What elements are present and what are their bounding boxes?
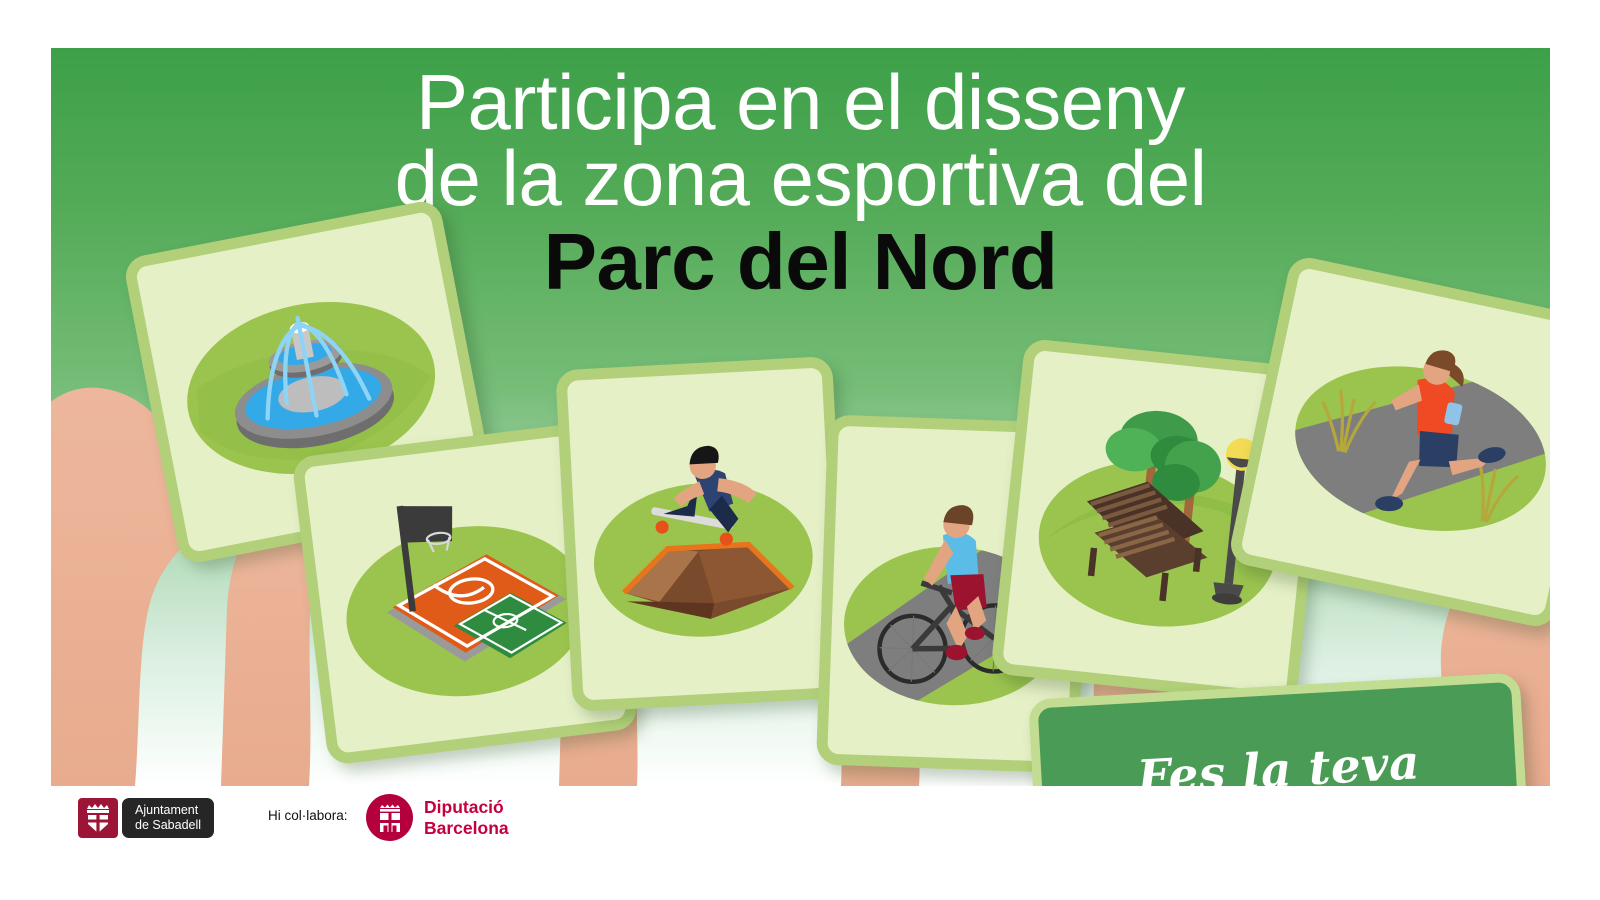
- sabadell-crest-icon: [78, 798, 118, 838]
- sabadell-logo[interactable]: Ajuntament de Sabadell: [78, 798, 214, 838]
- diputacio-crest-icon: [366, 794, 413, 841]
- sabadell-line-1: Ajuntament: [135, 803, 201, 818]
- footer-logos: Ajuntament de Sabadell Hi col·labora: Di…: [0, 786, 1600, 900]
- diputacio-logo[interactable]: Diputació Barcelona: [366, 794, 509, 841]
- skateboarder-icon: [567, 368, 839, 707]
- collaborator-label: Hi col·labora:: [268, 808, 348, 823]
- diputacio-line-1: Diputació: [424, 797, 509, 818]
- sabadell-line-2: de Sabadell: [135, 818, 201, 833]
- diputacio-line-2: Barcelona: [424, 818, 509, 839]
- sabadell-wordmark: Ajuntament de Sabadell: [122, 798, 214, 838]
- runner-icon: [1240, 267, 1550, 616]
- poster: Participa en el disseny de la zona espor…: [0, 0, 1600, 900]
- banner-panel: Participa en el disseny de la zona espor…: [51, 48, 1550, 786]
- diputacio-wordmark: Diputació Barcelona: [424, 797, 509, 839]
- card-skatepark[interactable]: [555, 356, 850, 712]
